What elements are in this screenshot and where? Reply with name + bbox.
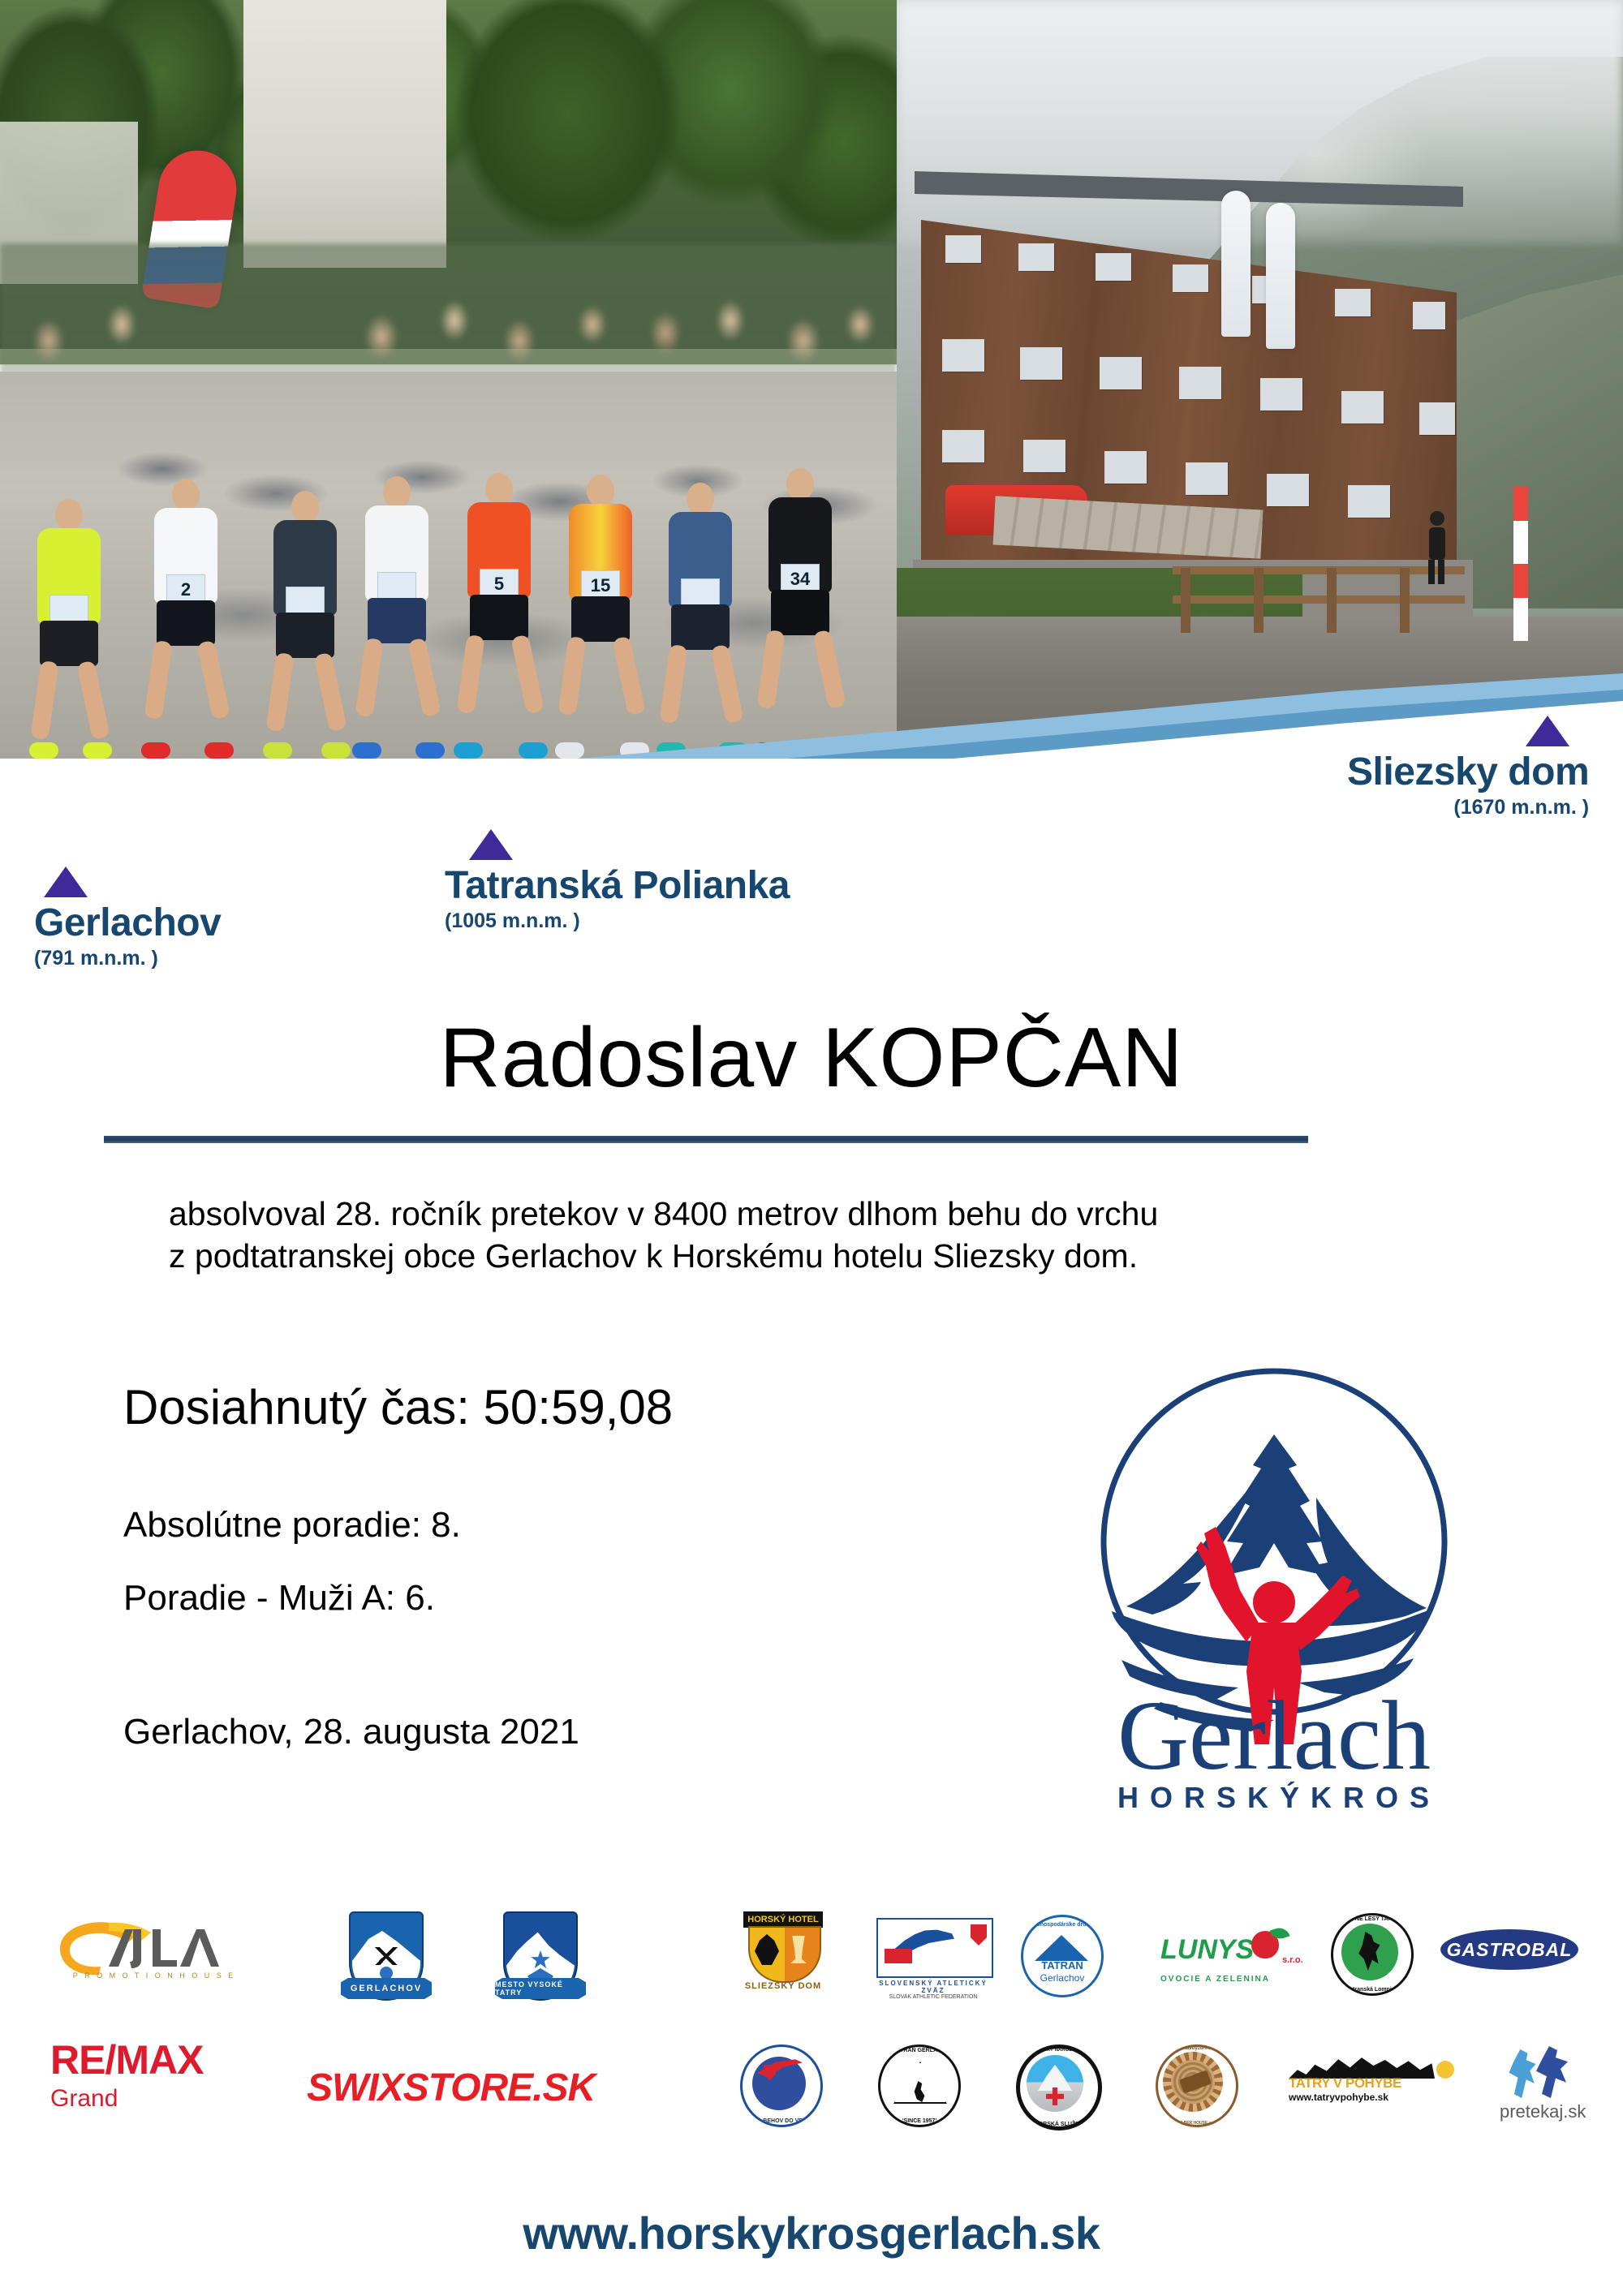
ajla-mark: P R O M O T I O N H O U S E: [50, 1915, 253, 1981]
tatry-v-pohybe-mark: TATRY V POHYBE www.tatryvpohybe.sk: [1289, 2049, 1459, 2092]
elevation-marker-name: Tatranská Polianka: [445, 863, 790, 908]
photo-hotel-window: [1018, 243, 1054, 271]
photo-hotel-window: [1267, 474, 1309, 506]
sponsor-horska-sluzba: TATRANSKÝ NÁRODNÝ PARK HORSKÁ SLUŽBA: [1016, 2044, 1102, 2130]
tanap-badge-icon: ŠTÁTNE LESY TANAPU Tatranská Lomnica: [1331, 1913, 1414, 1996]
photo-trail-runner: [1428, 511, 1446, 581]
stavbyzdreva-badge-icon: www.stavbyzdreva.com TIM BER HOUSE s.r.o…: [1156, 2044, 1238, 2127]
elevation-marker-name: Gerlachov: [34, 901, 221, 945]
sponsor-stavbyzdreva: www.stavbyzdreva.com TIM BER HOUSE s.r.o…: [1156, 2044, 1238, 2127]
runner-leg: [1438, 560, 1444, 584]
gastrobal-logo: GASTROBAL: [1440, 1929, 1578, 1970]
runner-head: [786, 468, 814, 501]
runner-body: [1429, 527, 1445, 560]
photo-hotel-window: [1260, 378, 1302, 411]
photo-race-start: 2: [0, 0, 897, 759]
runner-shorts: [671, 604, 730, 650]
header-photo-band: 2: [0, 0, 1623, 759]
tanap-top-label: ŠTÁTNE LESY TANAPU: [1333, 1916, 1411, 1922]
sponsor-vysoke-tatry-crest: MESTO VYSOKÉ TATRY: [503, 1911, 578, 2001]
photo-hotel-window: [1096, 253, 1131, 281]
runner-legs: [1428, 560, 1446, 588]
logo-svg: Gerlach H O R S K Ý K R O S: [1031, 1339, 1518, 1825]
elevation-marker-altitude: (1005 m.n.m. ): [445, 909, 790, 933]
tatran-sub-label: Gerlachov: [1023, 1972, 1101, 1984]
photo-hotel-window: [1179, 367, 1221, 399]
lunys-suffix: s.r.o.: [1282, 1955, 1303, 1965]
gerlachov-shield-icon: GERLACHOV: [349, 1911, 424, 2001]
ajla-subtitle: P R O M O T I O N H O U S E: [73, 1971, 236, 1980]
hs-bottom-label: HORSKÁ SLUŽBA: [1020, 2122, 1098, 2127]
certificate-intro-text: absolvoval 28. ročník pretekov v 8400 me…: [104, 1193, 1516, 1278]
photo-sliezsky-dom: [897, 0, 1623, 759]
sponsor-gastrobal: GASTROBAL: [1440, 1929, 1578, 1970]
vysoke-tatry-shield-icon: MESTO VYSOKÉ TATRY: [503, 1911, 578, 2001]
photo-hotel-window: [1335, 289, 1371, 316]
photo-fog: [897, 0, 1623, 243]
place-and-date: Gerlachov, 28. augusta 2021: [123, 1712, 579, 1752]
tvp-edelweiss-icon: [1436, 2061, 1454, 2079]
lunys-tagline: OVOCIE A ZELENINA: [1160, 1975, 1307, 1984]
sponsor-lunys: LUNYS s.r.o. OVOCIE A ZELENINA: [1160, 1929, 1307, 1984]
runner-shorts: [571, 596, 630, 642]
photo-hotel-window: [1413, 302, 1445, 329]
runner-head: [55, 499, 83, 531]
photo-wooden-fence: [1173, 560, 1465, 633]
photo-hotel-window: [1104, 451, 1147, 484]
athlete-name: Radoslav KOPČAN: [0, 1010, 1623, 1107]
tatran-mountain-icon: [1035, 1935, 1088, 1961]
tatran-main-label: TATRAN: [1023, 1959, 1101, 1971]
pretekaj-runners-icon: [1500, 2046, 1605, 2100]
photo-hotel-window: [1419, 402, 1455, 435]
photo-event-banner: [1266, 203, 1295, 349]
photo-event-banner: [1221, 191, 1251, 337]
lunys-mark: LUNYS s.r.o.: [1160, 1929, 1307, 1975]
sliezsky-dom-shield-icon: HORSKÝ HOTEL SLIEZSKY DOM: [738, 1911, 828, 1999]
runner-shorts: [771, 590, 829, 635]
runner-head: [291, 491, 319, 523]
saz-emblem: [876, 1918, 993, 1978]
sliezsky-banner: HORSKÝ HOTEL: [743, 1911, 823, 1928]
intro-line-2: z podtatranskej obce Gerlachov k Horském…: [169, 1235, 1516, 1277]
website-url[interactable]: www.horskykrosgerlach.sk: [0, 2207, 1623, 2259]
photo-hotel-window: [1348, 485, 1390, 518]
fence-post: [1400, 568, 1410, 633]
ajla-letters: [109, 1929, 219, 1968]
sponsor-sliezsky-dom-crest: HORSKÝ HOTEL SLIEZSKY DOM: [738, 1911, 836, 1999]
sponsor-unia-behov-do-vrchu: ÚNIA BEHOV DO VRCHU: [740, 2044, 823, 2127]
intro-line-1: absolvoval 28. ročník pretekov v 8400 me…: [169, 1193, 1516, 1235]
pretekaj-wordmark: pretekaj.sk: [1500, 2101, 1605, 2122]
elevation-marker-gerlachov: Gerlachov (791 m.n.m. ): [34, 866, 221, 970]
tanap-bottom-label: Tatranská Lomnica: [1333, 1987, 1411, 1993]
fence-rail: [1173, 595, 1465, 604]
runner-leg: [1428, 560, 1435, 584]
remax-sublabel: Grand: [50, 2085, 269, 2113]
photo-hotel-window: [942, 430, 984, 462]
runner-head: [485, 473, 513, 505]
remax-wordmark: RE/MAX: [50, 2036, 269, 2083]
photo-hotel-window: [1023, 440, 1065, 472]
runner-shorts: [368, 598, 426, 643]
hs-top-label: TATRANSKÝ NÁRODNÝ PARK: [1020, 2048, 1098, 2053]
gastrobal-label: GASTROBAL: [1447, 1939, 1573, 1961]
saz-label: SLOVENSKÝ ATLETICKÝ ZVÄZ: [876, 1980, 990, 1994]
fence-post: [1181, 568, 1190, 633]
sponsor-tj-tatran-gerlachov: TJ TATRAN GERLACHOV 'SINCE 1957': [878, 2044, 961, 2127]
sponsor-ajla: P R O M O T I O N H O U S E: [50, 1915, 253, 1981]
runner-head: [172, 479, 200, 511]
shield-ribbon-label: MESTO VYSOKÉ TATRY: [495, 1978, 586, 1999]
shield-ribbon-label: GERLACHOV: [341, 1978, 432, 1999]
absolute-ranking: Absolútne poradie: 8.: [123, 1505, 461, 1546]
sponsor-logo-area: P R O M O T I O N H O U S E GERLACHOV ME…: [0, 1907, 1623, 2215]
unia-badge-icon: ÚNIA BEHOV DO VRCHU: [740, 2044, 823, 2127]
sponsor-remax-grand: RE/MAX Grand: [50, 2036, 269, 2113]
sponsor-gerlachov-crest: GERLACHOV: [349, 1911, 424, 2001]
photo-trail-marker-pole: [1513, 487, 1528, 641]
runner-shorts: [157, 600, 215, 646]
tvp-sub-label: www.tatryvpohybe.sk: [1289, 2092, 1388, 2103]
elevation-marker-tatranska-polianka: Tatranská Polianka (1005 m.n.m. ): [445, 829, 790, 933]
sponsor-slovensky-atleticky-zvaz: SLOVENSKÝ ATLETICKÝ ZVÄZ SLOVAK ATHLETIC…: [876, 1918, 998, 2000]
triangle-marker-icon: [44, 866, 88, 897]
runner-shorts: [470, 595, 528, 640]
photo-hotel-window: [1186, 462, 1228, 495]
sponsor-pd-tatran-gerlachov: Poľnohospodárske družstvo TATRAN Gerlach…: [1021, 1915, 1104, 1997]
elevation-marker-altitude: (791 m.n.m. ): [34, 947, 221, 970]
photo-building: [243, 0, 446, 268]
sliezsky-banner-label: HORSKÝ HOTEL: [747, 1915, 818, 1924]
photo-hotel-window: [1173, 264, 1208, 292]
sponsor-statne-lesy-tanapu: ŠTÁTNE LESY TANAPU Tatranská Lomnica: [1331, 1913, 1414, 1996]
runner-head: [687, 483, 714, 515]
triangle-marker-icon: [1526, 716, 1569, 746]
horska-sluzba-badge-icon: TATRANSKÝ NÁRODNÝ PARK HORSKÁ SLUŽBA: [1016, 2044, 1102, 2130]
runner-head: [587, 475, 614, 507]
elevation-marker-name: Sliezsky dom: [1347, 750, 1589, 794]
tatran-badge-icon: Poľnohospodárske družstvo TATRAN Gerlach…: [1021, 1915, 1104, 1997]
runner-head: [383, 476, 411, 509]
gerlach-horsky-kros-logo: Gerlach H O R S K Ý K R O S: [1031, 1339, 1518, 1825]
photo-hotel-window: [1020, 347, 1062, 380]
photo-hotel-window: [1100, 357, 1142, 389]
achieved-time: Dosiahnutý čas: 50:59,08: [123, 1379, 673, 1435]
shield-hammers-icon: [375, 1947, 398, 1965]
sponsor-swixstore: SWIXSTORE.SK: [307, 2066, 595, 2110]
runner-shorts: [40, 621, 98, 666]
tatran-top-arc-label: Poľnohospodárske družstvo: [1023, 1922, 1101, 1928]
photo-hotel-window: [942, 339, 984, 372]
ajla-svg: P R O M O T I O N H O U S E: [50, 1915, 253, 1981]
saz-red-block: [885, 1949, 912, 1963]
logo-tagline: H O R S K Ý K R O S: [1117, 1781, 1431, 1814]
stavbyzdreva-top-label: www.stavbyzdreva.com: [1158, 2046, 1236, 2051]
elevation-marker-altitude: (1670 m.n.m. ): [1347, 796, 1589, 819]
logo-wordmark: Gerlach: [1117, 1681, 1431, 1791]
tvp-main-label: TATRY V POHYBE: [1289, 2075, 1401, 2092]
saz-slovak-flag-icon: [971, 1924, 987, 1946]
fence-post: [1254, 568, 1264, 633]
lunys-wordmark: LUNYS: [1160, 1934, 1254, 1966]
triangle-marker-icon: [469, 829, 513, 860]
remax-label: RE/MAX: [50, 2037, 203, 2083]
photo-hotel-window: [1341, 391, 1384, 424]
category-ranking: Poradie - Muži A: 6.: [123, 1578, 435, 1619]
elevation-marker-sliezsky-dom: Sliezsky dom (1670 m.n.m. ): [1347, 716, 1589, 819]
tj-bottom-label: 'SINCE 1957': [880, 2118, 958, 2124]
title-divider: [104, 1136, 1308, 1143]
fence-post: [1327, 568, 1337, 633]
pretekaj-runner-light: [1505, 2049, 1542, 2098]
stavbyzdreva-bottom-label: TIM BER HOUSE s.r.o.: [1158, 2121, 1236, 2126]
tj-top-label: TJ TATRAN GERLACHOV: [880, 2048, 958, 2053]
saz-sublabel: SLOVAK ATHLETIC FEDERATION: [876, 1994, 990, 2000]
sponsor-tatry-v-pohybe: TATRY V POHYBE www.tatryvpohybe.sk: [1289, 2049, 1459, 2092]
tj-tatran-badge-icon: TJ TATRAN GERLACHOV 'SINCE 1957': [878, 2044, 961, 2127]
tvp-silhouette-icon: [1289, 2049, 1435, 2079]
fence-rail: [1173, 566, 1465, 574]
runner-shorts: [276, 613, 334, 658]
sliezsky-ribbon-label: SLIEZSKY DOM: [738, 1981, 828, 1991]
runner-head: [1430, 511, 1444, 526]
swixstore-wordmark: SWIXSTORE.SK: [307, 2066, 595, 2110]
unia-bottom-label: ÚNIA BEHOV DO VRCHU: [743, 2118, 820, 2124]
photo-hotel-window: [945, 235, 981, 263]
pretekaj-runner-dark: [1532, 2046, 1573, 2098]
sponsor-pretekaj: pretekaj.sk: [1500, 2046, 1605, 2122]
